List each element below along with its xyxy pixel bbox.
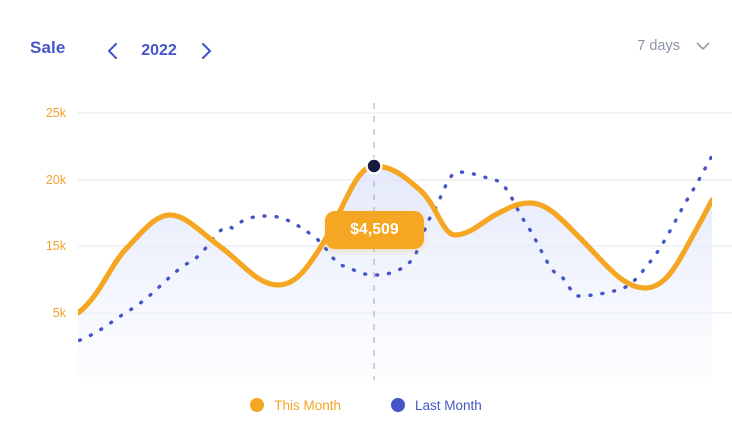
prev-year-button[interactable] [98,37,126,65]
legend-swatch-icon [391,398,405,412]
chart-header: Sale 2022 7 days [0,0,732,96]
value-tooltip: $4,509 [325,211,424,249]
chart-legend: This Month Last Month [0,386,732,424]
year-value[interactable]: 2022 [130,42,188,60]
date-range-label: 7 days [637,38,680,54]
legend-swatch-icon [250,398,264,412]
legend-item-this-month[interactable]: This Month [250,398,341,413]
this-month-area-fill [78,166,712,378]
chevron-down-icon [696,42,710,51]
chevron-left-icon [106,42,119,60]
sale-chart-card: Sale 2022 7 days 25k 20k [0,0,732,447]
chevron-right-icon [200,42,213,60]
chart-area: 25k 20k 15k 5k [0,96,732,386]
legend-item-last-month[interactable]: Last Month [391,398,482,413]
page-title: Sale [30,38,65,58]
legend-label: Last Month [415,398,482,413]
next-year-button[interactable] [192,37,220,65]
tooltip-value: $4,509 [350,221,399,239]
year-navigator: 2022 [98,36,220,66]
highlight-point[interactable] [368,160,380,172]
date-range-dropdown[interactable]: 7 days [637,38,710,54]
legend-label: This Month [274,398,341,413]
